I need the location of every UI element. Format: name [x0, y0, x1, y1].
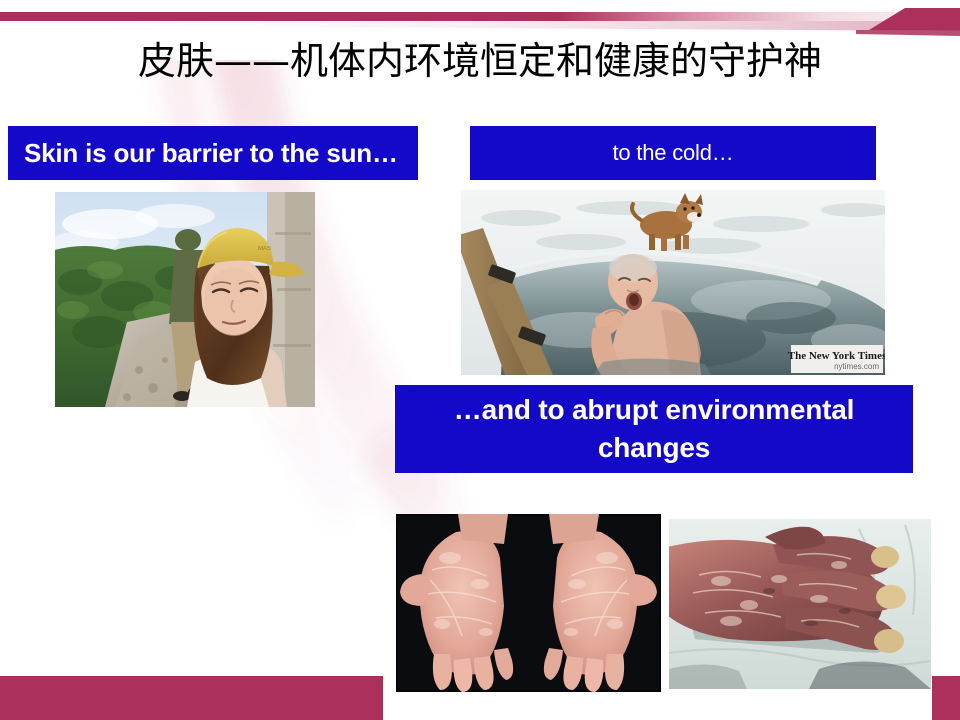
page-title: 皮肤——机体内环境恒定和健康的守护神: [0, 36, 960, 86]
photo-man-in-ice-water: The New York Times nytimes.com: [461, 190, 885, 375]
photo-palms-image: [396, 514, 661, 692]
svg-text:nytimes.com: nytimes.com: [834, 362, 879, 371]
caption-sun-text: Skin is our barrier to the sun…: [24, 138, 398, 169]
nyt-watermark-shape: The New York Times nytimes.com: [788, 345, 885, 373]
caption-banner-cold: to the cold…: [470, 126, 876, 180]
maroon-footer-bar-right: [932, 676, 960, 720]
maroon-footer-bar-left: [0, 676, 383, 720]
caption-cold-text: to the cold…: [612, 140, 733, 166]
photo-hand-image: [669, 519, 931, 689]
photo-palms-skin-condition: [396, 514, 661, 692]
photo-girl-in-sun: MAS: [55, 192, 315, 407]
caption-banner-abrupt-changes: …and to abrupt environmental changes: [395, 385, 913, 473]
photo-man-in-ice-water-image: The New York Times nytimes.com: [461, 190, 885, 375]
svg-text:MAS: MAS: [258, 246, 271, 252]
photo-hand-skin-condition: [669, 519, 931, 689]
svg-text:The New York Times: The New York Times: [788, 350, 885, 362]
photo-girl-in-sun-image: MAS: [55, 192, 315, 407]
slide-canvas: 皮肤——机体内环境恒定和健康的守护神 Skin is our barrier t…: [0, 0, 960, 720]
caption-banner-sun: Skin is our barrier to the sun…: [8, 126, 418, 180]
caption-abrupt-line2: changes: [598, 429, 710, 467]
caption-abrupt-line1: …and to abrupt environmental: [454, 391, 854, 429]
